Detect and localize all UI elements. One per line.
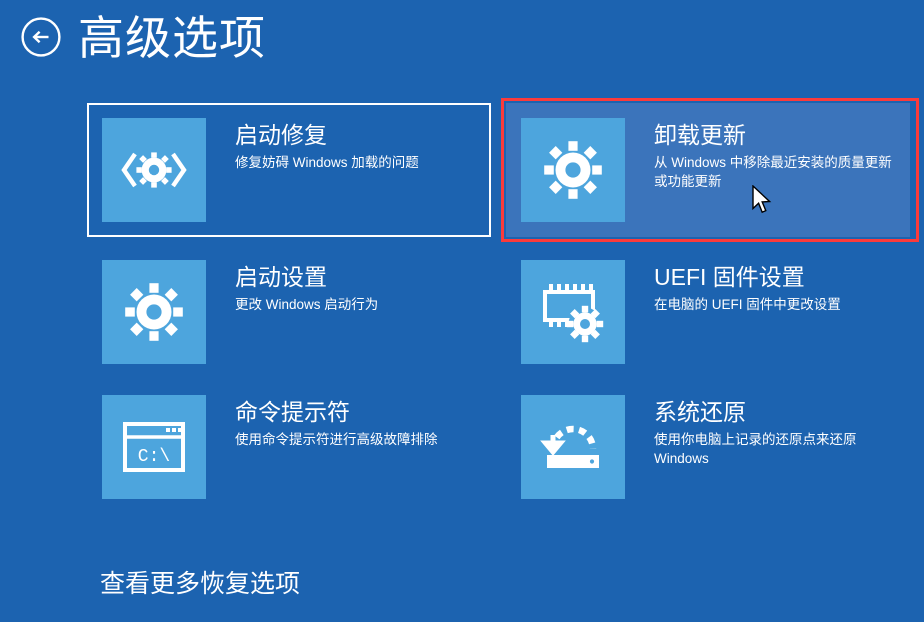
options-grid: 启动修复 修复妨碍 Windows 加载的问题 [0, 99, 924, 519]
option-tile-uefi-firmware-settings[interactable]: UEFI 固件设置 在电脑的 UEFI 固件中更改设置 [506, 245, 910, 379]
option-description: 更改 Windows 启动行为 [235, 295, 476, 314]
option-text: UEFI 固件设置 在电脑的 UEFI 固件中更改设置 [625, 260, 895, 314]
option-description: 在电脑的 UEFI 固件中更改设置 [654, 295, 895, 314]
page-header: 高级选项 [0, 0, 924, 88]
option-title: 命令提示符 [235, 397, 476, 427]
option-tile-system-restore[interactable]: 系统还原 使用你电脑上记录的还原点来还原 Windows [506, 380, 910, 514]
option-tile-command-prompt[interactable]: C:\ 命令提示符 使用命令提示符进行高级故障排除 [87, 380, 491, 514]
option-tile-startup-repair[interactable]: 启动修复 修复妨碍 Windows 加载的问题 [87, 103, 491, 237]
chevrons-gear-icon [102, 118, 206, 222]
option-description: 使用命令提示符进行高级故障排除 [235, 430, 476, 449]
option-description: 修复妨碍 Windows 加载的问题 [235, 153, 476, 172]
option-title: UEFI 固件设置 [654, 262, 895, 292]
restore-drive-icon [521, 395, 625, 499]
option-text: 启动设置 更改 Windows 启动行为 [206, 260, 476, 314]
gear-icon [521, 118, 625, 222]
option-title: 卸载更新 [654, 120, 895, 150]
back-arrow-circle-icon[interactable] [20, 16, 62, 58]
option-text: 命令提示符 使用命令提示符进行高级故障排除 [206, 395, 476, 449]
svg-text:C:\: C:\ [138, 447, 170, 467]
option-text: 系统还原 使用你电脑上记录的还原点来还原 Windows [625, 395, 895, 468]
page-title: 高级选项 [78, 2, 266, 74]
gear-icon [102, 260, 206, 364]
option-tile-startup-settings[interactable]: 启动设置 更改 Windows 启动行为 [87, 245, 491, 379]
option-title: 启动修复 [235, 120, 476, 150]
chip-gear-icon [521, 260, 625, 364]
more-recovery-options-link[interactable]: 查看更多恢复选项 [100, 566, 300, 602]
console-window-icon: C:\ [102, 395, 206, 499]
option-text: 启动修复 修复妨碍 Windows 加载的问题 [206, 118, 476, 172]
option-title: 系统还原 [654, 397, 895, 427]
option-title: 启动设置 [235, 262, 476, 292]
option-description: 从 Windows 中移除最近安装的质量更新或功能更新 [654, 153, 895, 191]
option-text: 卸载更新 从 Windows 中移除最近安装的质量更新或功能更新 [625, 118, 895, 191]
option-description: 使用你电脑上记录的还原点来还原 Windows [654, 430, 895, 468]
advanced-options-screen: 高级选项 [0, 0, 924, 622]
option-tile-uninstall-updates[interactable]: 卸载更新 从 Windows 中移除最近安装的质量更新或功能更新 [506, 103, 910, 237]
